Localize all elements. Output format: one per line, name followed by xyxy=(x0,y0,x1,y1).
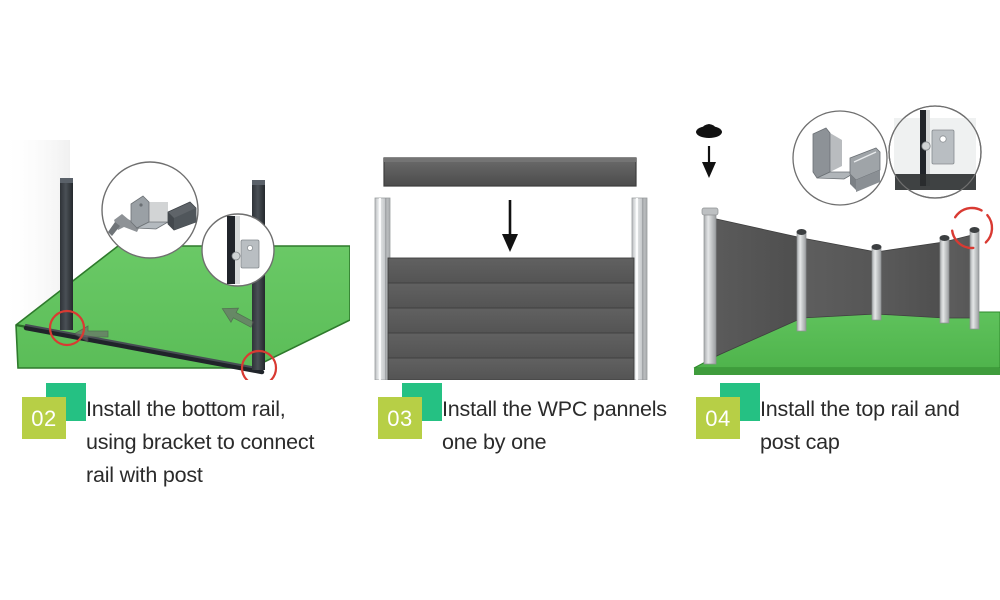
bottom-rail-on-ground-illustration xyxy=(0,140,350,380)
instruction-steps-page: 02 Install the bottom rail, using bracke… xyxy=(0,0,1000,600)
step-number: 04 xyxy=(696,397,740,439)
top-rail-profile-detail xyxy=(793,111,887,205)
step-03: 03 Install the WPC pannels one by one xyxy=(350,0,680,600)
step-03-svg xyxy=(370,140,670,380)
step-badge-04: 04 xyxy=(688,383,762,439)
panel-drop-arrow xyxy=(502,200,518,252)
wpc-panel xyxy=(388,258,634,283)
fence-post xyxy=(797,229,807,331)
post-cap-bracket-detail xyxy=(889,106,981,198)
step-04: 04 Install the top rail and post cap xyxy=(680,0,1000,600)
fence-post xyxy=(872,244,882,320)
fence-post-highlighted xyxy=(970,227,980,329)
left-post xyxy=(60,178,73,330)
wpc-panel xyxy=(388,358,634,380)
fence-second-bay xyxy=(802,238,876,318)
top-rail-bar xyxy=(384,158,636,186)
fence-third-bay xyxy=(876,242,944,318)
post-bracket-screw-detail xyxy=(202,214,274,286)
wpc-panel-stack xyxy=(388,258,634,380)
fence-post xyxy=(940,235,950,323)
bracket-and-rail-detail xyxy=(102,162,198,258)
step-caption: Install the bottom rail, using bracket t… xyxy=(86,393,350,492)
wpc-panel xyxy=(388,333,634,358)
wpc-panel xyxy=(388,308,634,333)
step-02: 02 Install the bottom rail, using bracke… xyxy=(0,0,350,600)
step-number: 03 xyxy=(378,397,422,439)
step-badge-03: 03 xyxy=(370,383,444,439)
post-cap-drop-arrow xyxy=(696,124,722,178)
step-caption: Install the top rail and post cap xyxy=(760,393,992,459)
step-caption: Install the WPC pannels one by one xyxy=(442,393,694,459)
fence-post xyxy=(702,208,718,364)
step-02-svg xyxy=(0,140,350,380)
finished-fence-corner-illustration xyxy=(680,100,1000,380)
step-badge-02: 02 xyxy=(14,383,88,439)
step-number: 02 xyxy=(22,397,66,439)
wpc-panel xyxy=(388,283,634,308)
wpc-panels-stack-illustration xyxy=(370,140,670,380)
step-04-svg xyxy=(680,100,1000,380)
